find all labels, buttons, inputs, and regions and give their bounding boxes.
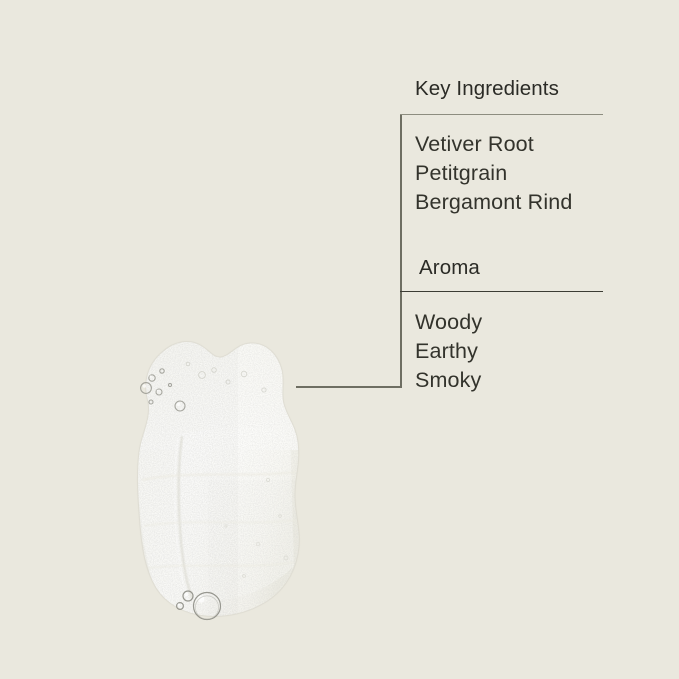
- list-item: Vetiver Root: [415, 130, 572, 159]
- list-item: Bergamont Rind: [415, 188, 572, 217]
- list-item: Smoky: [415, 366, 482, 395]
- aroma-divider: [400, 291, 603, 292]
- aroma-list: Woody Earthy Smoky: [415, 308, 482, 395]
- list-item: Woody: [415, 308, 482, 337]
- list-item: Earthy: [415, 337, 482, 366]
- product-foam-swatch: [118, 330, 313, 630]
- callout-vertical-line: [400, 114, 402, 388]
- key-ingredients-heading: Key Ingredients: [415, 77, 559, 101]
- key-ingredients-list: Vetiver Root Petitgrain Bergamont Rind: [415, 130, 572, 217]
- aroma-heading: Aroma: [419, 256, 480, 280]
- product-detail-canvas: Key Ingredients Vetiver Root Petitgrain …: [0, 0, 679, 679]
- foam-swatch-graphic: [118, 330, 313, 630]
- list-item: Petitgrain: [415, 159, 572, 188]
- key-ingredients-divider: [400, 114, 603, 115]
- callout-horizontal-line: [296, 386, 401, 388]
